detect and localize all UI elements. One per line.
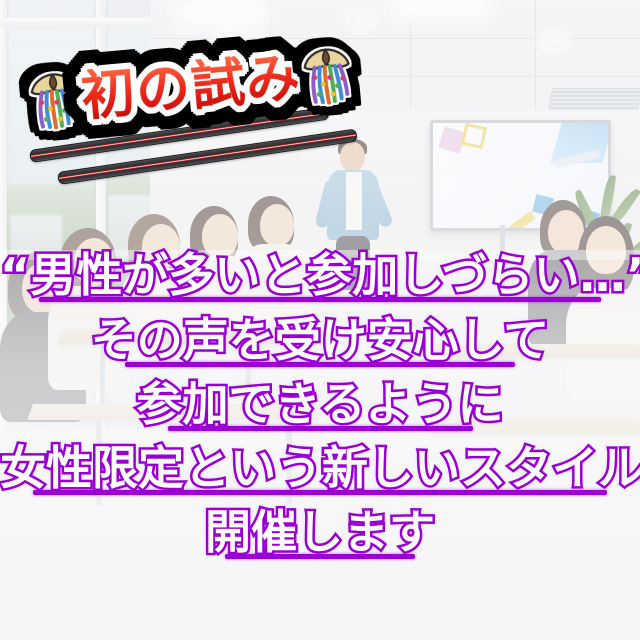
copy-line-text: 開催します <box>205 509 435 556</box>
party-streamer-icon <box>25 66 84 133</box>
body-copy: “男性が多いと参加しづらい…” その声を受け安心して 参加できるように 女性限定… <box>0 252 640 559</box>
copy-line: 女性限定という新しいスタイルで <box>0 445 640 495</box>
copy-line: その声を受け安心して <box>0 317 640 367</box>
copy-line: 開催します <box>0 509 640 559</box>
copy-line: “男性が多いと参加しづらい…” <box>0 252 640 302</box>
copy-line-text: “男性が多いと参加しづらい…” <box>0 252 640 299</box>
party-streamer-icon <box>298 41 357 108</box>
copy-line-text: 参加できるように <box>136 381 503 428</box>
copy-line: 参加できるように <box>0 381 640 431</box>
headline-text: 初の試み <box>79 50 303 124</box>
poster-canvas: 初の試み “男性が多いと参加しづらい <box>0 0 640 640</box>
copy-line-text: その声を受け安心して <box>91 317 550 364</box>
copy-line-text: 女性限定という新しいスタイルで <box>0 445 640 492</box>
